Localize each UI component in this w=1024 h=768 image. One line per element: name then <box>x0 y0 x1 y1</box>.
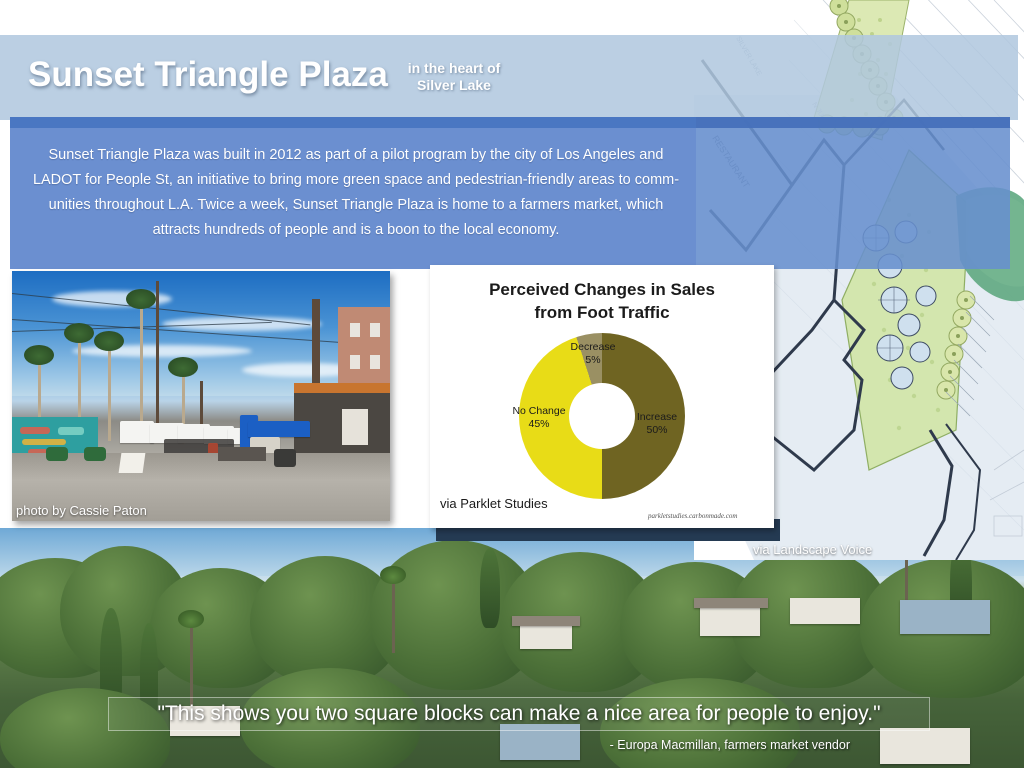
quote-box: "This shows you two square blocks can ma… <box>108 697 930 731</box>
slice-label-decrease-name: Decrease <box>571 341 616 353</box>
slice-label-no-change: No Change 45% <box>502 405 576 431</box>
planter <box>84 447 106 461</box>
market-photo-credit: photo by Cassie Paton <box>16 503 147 518</box>
hillside-house <box>790 598 860 624</box>
slice-label-increase-name: Increase <box>637 411 677 423</box>
cypress-tree <box>480 548 500 628</box>
palm-tree <box>392 573 395 653</box>
slide-canvas: RESTAURANT SILVER LAKE N JUL Sunset Tria… <box>0 0 1024 768</box>
quote-attribution: - Europa Macmillan, farmers market vendo… <box>510 738 850 752</box>
palm-tree <box>140 298 143 438</box>
palm-tree <box>126 289 156 309</box>
slice-label-no-change-name: No Change <box>512 405 565 417</box>
page-title: Sunset Triangle Plaza <box>28 55 388 95</box>
hillside-house <box>520 623 572 649</box>
palm-tree <box>380 566 406 584</box>
silver-lake-hillside-photo <box>0 528 1024 768</box>
slice-label-decrease-value: 5% <box>585 354 600 366</box>
slice-label-increase: Increase 50% <box>626 411 688 437</box>
building-window <box>350 355 360 369</box>
hillside-house <box>880 728 970 764</box>
building-window <box>370 355 380 369</box>
intro-paragraph: Sunset Triangle Plaza was built in 2012 … <box>32 143 680 243</box>
slice-label-decrease: Decrease 5% <box>560 341 626 367</box>
subtitle-line-2: Silver Lake <box>417 77 491 93</box>
chart-title: Perceived Changes in Sales from Foot Tra… <box>430 278 774 324</box>
storefront-door <box>342 409 368 445</box>
subtitle-line-1: in the heart of <box>408 60 501 76</box>
chart-watermark: parkletstudies.carbonmade.com <box>648 512 737 520</box>
palm-tree <box>24 345 54 365</box>
chart-title-line-1: Perceived Changes in Sales <box>489 280 715 299</box>
hillside-house <box>700 606 760 636</box>
hillside-house-roof <box>694 598 768 608</box>
palm-tree <box>190 618 193 708</box>
hillside-house <box>900 600 990 634</box>
chart-title-line-2: from Foot Traffic <box>534 303 669 322</box>
chart-panel: Perceived Changes in Sales from Foot Tra… <box>430 265 774 528</box>
intro-panel: Sunset Triangle Plaza was built in 2012 … <box>10 117 1010 269</box>
page-subtitle: in the heart of Silver Lake <box>384 60 524 94</box>
utility-pole <box>156 281 159 441</box>
building-window <box>350 323 360 337</box>
palm-tree <box>178 610 204 628</box>
building-window <box>370 323 380 337</box>
planter <box>274 449 296 467</box>
vendor-tent <box>120 421 154 443</box>
hillside-house-roof <box>512 616 580 626</box>
site-plan-credit: via Landscape Voice <box>753 542 872 557</box>
chart-source-credit: via Parklet Studies <box>440 496 548 511</box>
planter <box>46 447 68 461</box>
slice-label-no-change-value: 45% <box>528 418 549 430</box>
palm-tree <box>64 323 94 343</box>
white-chair <box>119 453 146 473</box>
blue-canopy <box>248 421 310 437</box>
intro-panel-solid-strip <box>10 117 696 128</box>
quote-text: "This shows you two square blocks can ma… <box>109 698 929 730</box>
market-sign <box>218 447 266 461</box>
storefront-awning <box>294 383 390 393</box>
palm-tree <box>94 331 124 351</box>
palm-tree <box>108 341 111 441</box>
palm-tree <box>168 357 198 377</box>
farmers-market-photo <box>12 271 390 521</box>
slice-label-increase-value: 50% <box>646 424 667 436</box>
